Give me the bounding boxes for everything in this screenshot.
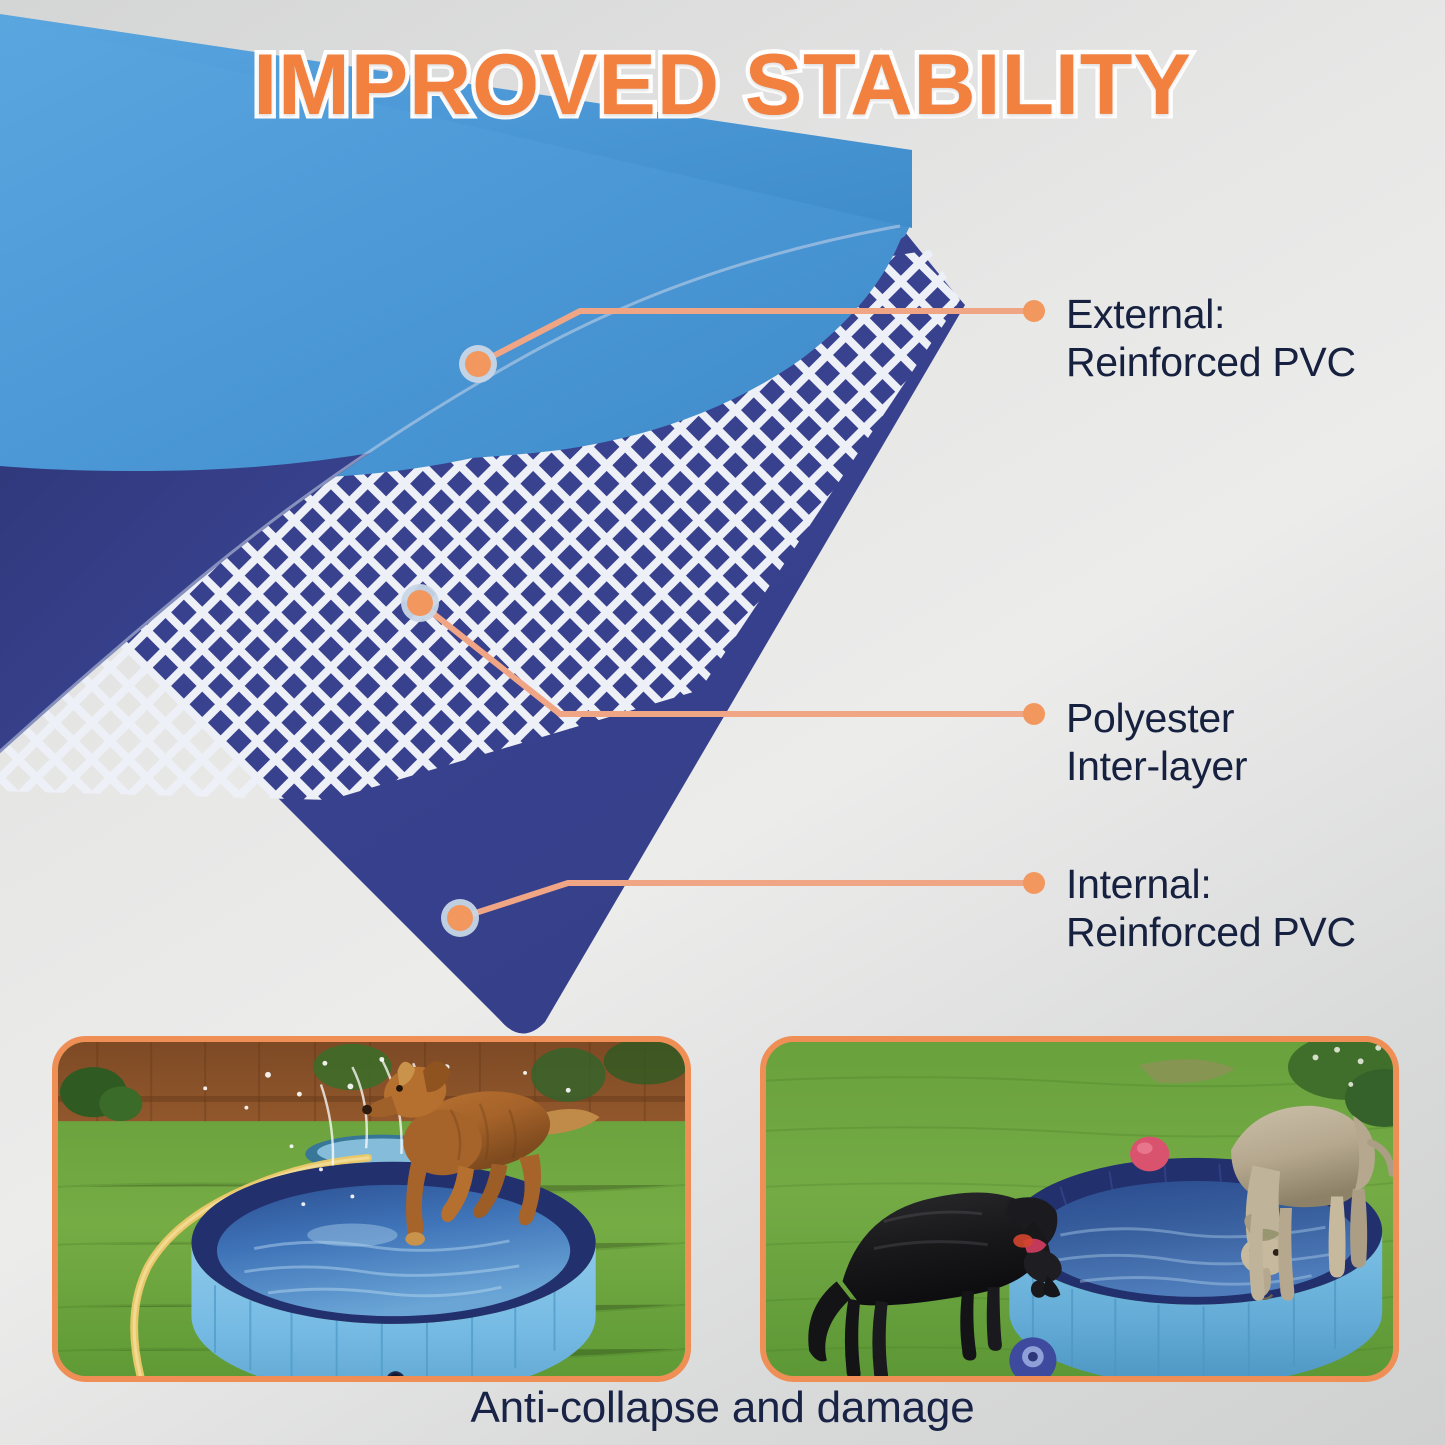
callout-label-external: External: Reinforced PVC: [1066, 290, 1356, 387]
dot-internal: [441, 899, 479, 937]
dot-end-polyester: [1023, 703, 1045, 725]
dot-external: [459, 345, 497, 383]
infographic-canvas: IMPROVED STABILITY IMPROVED STABILITY Ex…: [0, 0, 1445, 1445]
dot-end-external: [1023, 300, 1045, 322]
callout-label-polyester: Polyester Inter-layer: [1066, 694, 1247, 791]
dot-polyester: [401, 584, 439, 622]
bottom-caption: Anti-collapse and damage: [0, 1383, 1445, 1433]
product-photo-two-greyhounds: [760, 1036, 1399, 1382]
product-photo-dog-jumping: [52, 1036, 691, 1382]
dot-end-internal: [1023, 872, 1045, 894]
callout-label-internal: Internal: Reinforced PVC: [1066, 860, 1356, 957]
page-title-stroke: IMPROVED STABILITY: [0, 36, 1445, 135]
